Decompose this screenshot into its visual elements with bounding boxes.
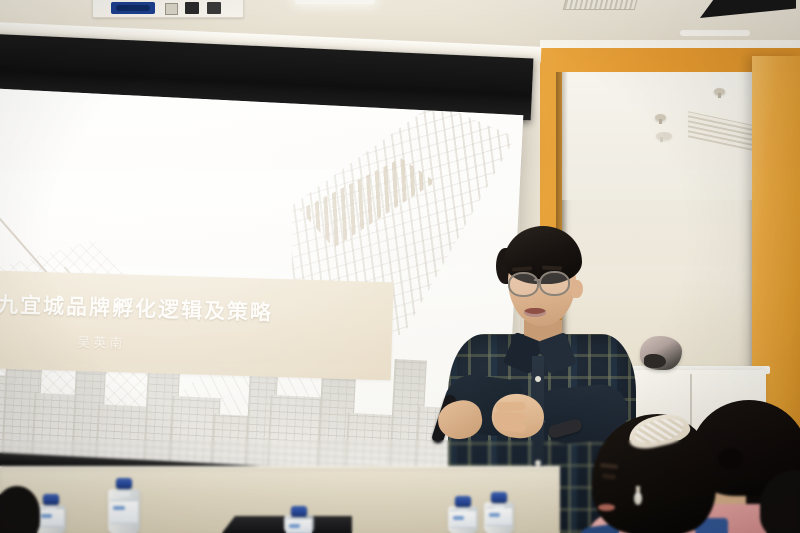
attendee-front	[592, 414, 724, 533]
water-bottle	[108, 478, 140, 533]
attendee-lips	[598, 504, 615, 511]
shirt-button	[535, 376, 541, 382]
air-vent-icon	[563, 0, 639, 10]
strip-light	[295, 0, 375, 4]
bottle-cap	[491, 492, 507, 503]
water-bottle	[36, 494, 66, 533]
presenter-mouth	[524, 308, 546, 317]
vga-port-icon	[111, 2, 155, 14]
eyeglasses-bridge	[534, 279, 541, 281]
bottle-cap	[291, 506, 307, 517]
av-wall-plate	[92, 0, 244, 18]
network-port-icon	[185, 2, 199, 14]
water-bottle	[284, 506, 314, 533]
water-bottle	[448, 496, 478, 533]
pearl-earring	[634, 492, 642, 505]
bottle-cap	[43, 494, 59, 505]
sprinkler-icon	[714, 88, 725, 95]
bottle-cap	[116, 478, 133, 489]
decorative-sculpture	[640, 336, 682, 370]
ceiling-downlight-icon	[656, 132, 672, 140]
sprinkler-icon	[655, 114, 666, 121]
eyeglasses-icon	[539, 271, 570, 296]
usb-port-icon	[165, 3, 178, 15]
eyeglasses-icon	[508, 272, 539, 297]
network-port-icon	[207, 2, 221, 14]
presenter-ear	[571, 280, 583, 298]
presentation-photo: 九宜城品牌孵化逻辑及策略 吴英南	[0, 0, 800, 533]
strip-light-secondary	[680, 30, 750, 36]
presenter-finger	[496, 401, 526, 411]
water-bottle	[484, 492, 514, 533]
bottle-cap	[455, 496, 471, 507]
